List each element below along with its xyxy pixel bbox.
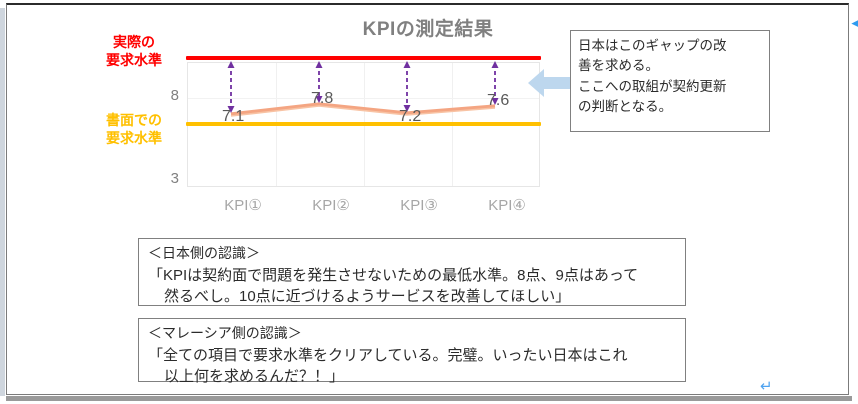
y-axis-tick-8: 8: [155, 87, 179, 104]
slide-right-edge: [850, 8, 854, 396]
slide-canvas: KPIの測定結果 8 3 KPI① KPI② KPI③ KPI④ 実際の 要求水…: [0, 0, 858, 404]
reference-label-actual-line2: 要求水準: [86, 52, 182, 70]
y-axis-tick-3: 3: [155, 170, 179, 187]
callout-line-4: の判断となる。: [578, 97, 762, 117]
data-label-kpi-3: 7.2: [399, 108, 421, 126]
callout-line-1: 日本はこのギャップの改: [578, 36, 762, 56]
reference-label-written-line2: 要求水準: [86, 130, 182, 148]
data-label-kpi-4: 7.6: [487, 92, 509, 110]
x-axis-tick-kpi-1: KPI①: [199, 196, 287, 214]
reference-label-written-line1: 書面での: [86, 112, 182, 130]
note-box-japan: ＜日本側の認識＞ 「KPIは契約面で問題を発生させないための最低水準。8点、9点…: [138, 238, 686, 306]
callout-line-3: ここへの取組が契約更新: [578, 77, 762, 97]
x-axis-tick-kpi-4: KPI④: [463, 196, 551, 214]
note-box-japan-line2: 然るべし。10点に近づけるようサービスを改善してほしい」: [148, 286, 676, 308]
reference-line-actual-requirement: [186, 56, 541, 60]
note-box-malaysia-line2: 以上何を求めるんだ？！」: [148, 366, 676, 388]
x-axis-tick-kpi-3: KPI③: [375, 196, 463, 214]
corner-marker-icon: ◄: [849, 16, 858, 30]
chart-title: KPIの測定結果: [248, 14, 608, 41]
reference-label-written-requirement: 書面での 要求水準: [86, 112, 182, 147]
note-box-malaysia: ＜マレーシア側の認識＞ 「全ての項目で要求水準をクリアしている。完璧。いったい日…: [138, 318, 686, 382]
reference-label-actual-requirement: 実際の 要求水準: [86, 34, 182, 69]
slide-bottom-edge: [6, 396, 852, 401]
callout-textbox: 日本はこのギャップの改 善を求める。 ここへの取組が契約更新 の判断となる。: [570, 30, 770, 132]
note-box-malaysia-heading: ＜マレーシア側の認識＞: [148, 323, 676, 345]
note-box-japan-heading: ＜日本側の認識＞: [148, 243, 676, 265]
data-label-kpi-1: 7.1: [222, 108, 244, 126]
data-label-kpi-2: 7.8: [311, 90, 333, 108]
callout-arrow-icon: [528, 66, 574, 100]
x-axis-tick-kpi-2: KPI②: [287, 196, 375, 214]
note-box-japan-line1: 「KPIは契約面で問題を発生させないための最低水準。8点、9点はあって: [148, 265, 676, 287]
reference-label-actual-line1: 実際の: [86, 34, 182, 52]
note-box-malaysia-line1: 「全ての項目で要求水準をクリアしている。完璧。いったい日本はこれ: [148, 345, 676, 367]
slide-left-edge: [0, 8, 5, 396]
return-arrow-icon: ↵: [760, 377, 773, 395]
callout-line-2: 善を求める。: [578, 56, 762, 76]
